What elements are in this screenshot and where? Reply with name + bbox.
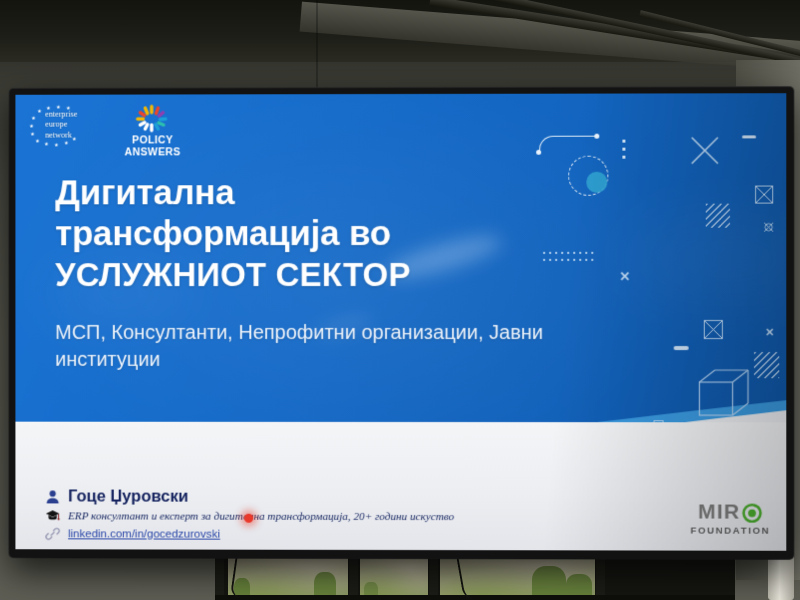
miro-subtitle: FOUNDATION [690,526,770,537]
graduation-cap-icon [45,508,60,523]
svg-text:★: ★ [64,141,69,147]
miro-o-mark-icon [742,503,762,523]
laser-pointer-dot [244,514,253,523]
policy-answers-label: POLICY ANSWERS [111,134,195,158]
svg-text:★: ★ [44,142,49,148]
een-logo: ★★ ★★ ★★ ★★ ★★ ★★ enterprise europe n [23,104,95,148]
linkedin-link[interactable]: linkedin.com/in/gocedzurovski [68,528,220,540]
title-line-1: Дигитална [55,172,614,214]
slide-footer: Гоце Џуровски ERP консултант и експерт з… [15,422,786,551]
miro-wordmark-row: MIR [698,500,762,524]
television: ✕ ✕ [9,87,793,559]
svg-text:★: ★ [35,139,40,145]
title-line-2: трансформација во [55,213,614,254]
een-line3: network [45,130,77,140]
tv-screen: ✕ ✕ [15,93,786,551]
svg-text:★: ★ [31,116,36,122]
window-pane [360,558,428,600]
speaker-role-row: ERP консултант и експерт за дигитална тр… [45,508,664,524]
slide-subtitle: МСП, Консултанти, Непрофитни организации… [55,320,644,374]
svg-text:★: ★ [29,124,34,130]
person-icon [45,489,60,504]
speaker-block: Гоце Џуровски ERP консултант и експерт з… [45,487,664,542]
miro-foundation-logo: MIR FOUNDATION [690,500,770,536]
svg-text:★: ★ [30,132,35,138]
slide-title: Дигитална трансформација во УСЛУЖНИОТ СЕ… [55,172,614,295]
miro-word: MIR [698,500,740,524]
speaker-role: ERP консултант и експерт за дигитална тр… [68,510,454,523]
policy-answers-logo: POLICY ANSWERS [111,103,195,149]
een-line1: enterprise [45,110,77,120]
svg-text:★: ★ [54,143,59,148]
speaker-name-row: Гоце Џуровски [45,487,664,507]
logo-row: ★★ ★★ ★★ ★★ ★★ ★★ enterprise europe n [23,103,194,149]
speaker-name: Гоце Џуровски [68,487,188,506]
photo-scene: ✕ ✕ [0,0,800,600]
title-line-3: УСЛУЖНИОТ СЕКТОР [55,254,614,295]
speaker-link-row[interactable]: linkedin.com/in/gocedzurovski [45,526,664,542]
presentation-slide: ✕ ✕ [15,93,786,551]
link-icon [45,526,60,541]
pinwheel-icon [131,103,175,133]
svg-text:★: ★ [37,109,42,115]
een-line2: europe [45,120,77,130]
